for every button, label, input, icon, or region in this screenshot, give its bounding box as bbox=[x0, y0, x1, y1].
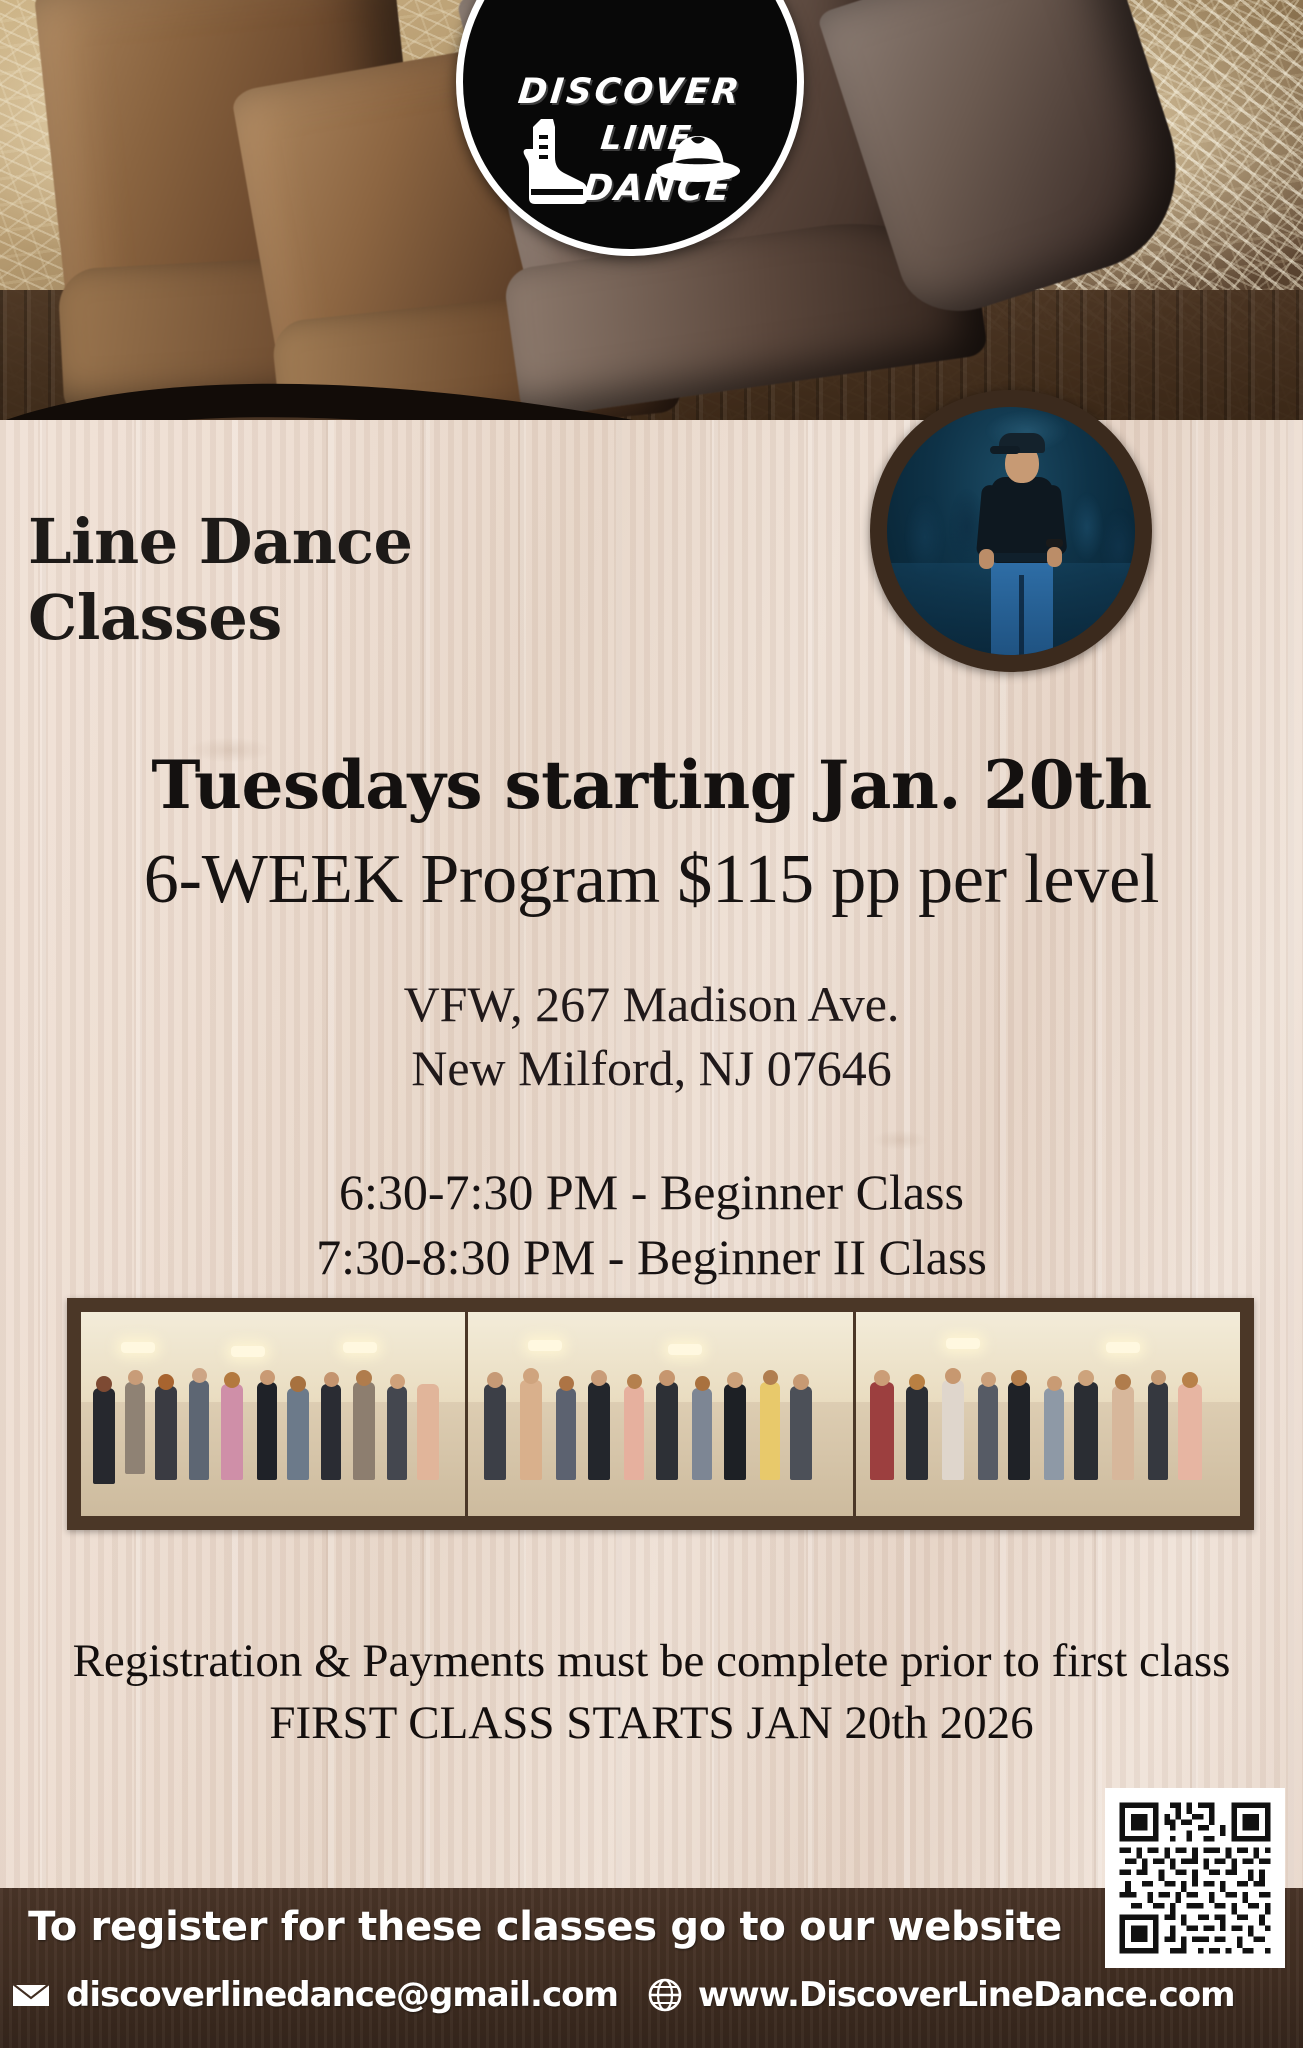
class-time-beginner: 6:30-7:30 PM - Beginner Class bbox=[0, 1160, 1303, 1225]
footer-website[interactable]: www.DiscoverLineDance.com bbox=[698, 1975, 1235, 2015]
cowboy-hat-icon bbox=[655, 131, 741, 183]
class-photo-1 bbox=[81, 1312, 465, 1516]
registration-note-line-1: Registration & Payments must be complete… bbox=[0, 1630, 1303, 1692]
logo-text-discover: DISCOVER bbox=[516, 75, 743, 110]
page-title-line-2: Classes bbox=[28, 580, 668, 656]
registration-note-line-2: FIRST CLASS STARTS JAN 20th 2026 bbox=[0, 1692, 1303, 1754]
cowboy-boot-icon bbox=[521, 117, 587, 209]
registration-note: Registration & Payments must be complete… bbox=[0, 1630, 1303, 1754]
qr-code[interactable] bbox=[1105, 1788, 1285, 1968]
dancer-hand-left bbox=[979, 549, 994, 569]
cta-register-text: To register for these classes go to our … bbox=[0, 1904, 1090, 1950]
flyer-page: DISCOVER LINE DANCE bbox=[0, 0, 1303, 2048]
class-time-beginner-two: 7:30-8:30 PM - Beginner II Class bbox=[0, 1225, 1303, 1290]
class-photo-strip bbox=[67, 1298, 1254, 1530]
dancer-cap bbox=[999, 433, 1045, 453]
dancer-watch bbox=[1046, 539, 1063, 547]
page-title-line-1: Line Dance bbox=[28, 504, 668, 580]
brand-logo-badge[interactable]: DISCOVER LINE DANCE bbox=[456, 0, 804, 256]
envelope-icon bbox=[12, 1981, 50, 2009]
venue-address-line-2: New Milford, NJ 07646 bbox=[0, 1036, 1303, 1100]
dancer-belt bbox=[991, 553, 1053, 562]
footer-contact: discoverlinedance@gmail.com www.Discover… bbox=[0, 1975, 1303, 2015]
class-times: 6:30-7:30 PM - Beginner Class 7:30-8:30 … bbox=[0, 1160, 1303, 1290]
page-title: Line Dance Classes bbox=[28, 504, 668, 655]
class-photo-3 bbox=[856, 1312, 1240, 1516]
globe-icon bbox=[648, 1978, 682, 2012]
dancer-circle-photo bbox=[870, 390, 1152, 672]
class-photo-2 bbox=[468, 1312, 852, 1516]
dancer-hand-right bbox=[1047, 547, 1062, 567]
headline-start-date: Tuesdays starting Jan. 20th bbox=[0, 746, 1303, 824]
qr-code-image bbox=[1114, 1797, 1276, 1959]
footer-email[interactable]: discoverlinedance@gmail.com bbox=[66, 1975, 618, 2015]
dancer-jeans bbox=[991, 557, 1053, 667]
venue-address: VFW, 267 Madison Ave. New Milford, NJ 07… bbox=[0, 972, 1303, 1100]
program-price-line: 6-WEEK Program $115 pp per level bbox=[0, 840, 1303, 920]
venue-address-line-1: VFW, 267 Madison Ave. bbox=[0, 972, 1303, 1036]
